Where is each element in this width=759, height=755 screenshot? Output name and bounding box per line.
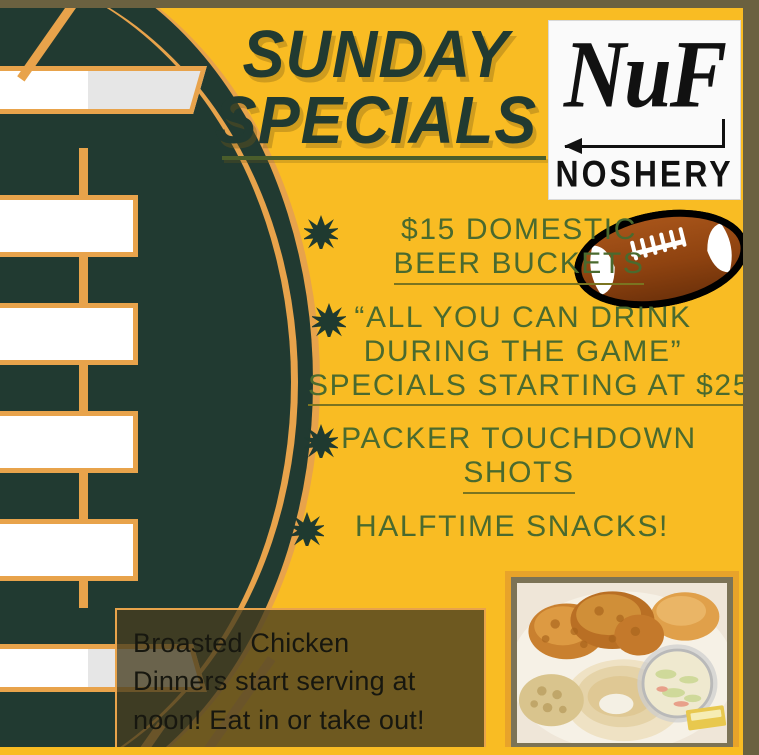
- special-line: SHOTS: [463, 456, 574, 494]
- special-line: “ALL YOU CAN DRINK: [308, 301, 738, 335]
- football-lace: [0, 195, 138, 257]
- page-title: SUNDAY SPECIALS: [196, 22, 556, 160]
- title-line-specials: SPECIALS: [207, 88, 545, 154]
- left-arrow-icon: [565, 145, 725, 148]
- special-item: HALFTIME SNACKS!: [286, 510, 738, 544]
- football-lace-bottom-highlight: [0, 649, 88, 687]
- special-item: “ALL YOU CAN DRINK DURING THE GAME” SPEC…: [308, 301, 738, 407]
- football-lace: [0, 303, 138, 365]
- title-line-sunday: SUNDAY: [207, 22, 545, 88]
- caption-box: Broasted Chicken Dinners start serving a…: [115, 608, 486, 755]
- starburst-icon: [304, 215, 338, 249]
- caption-line-2: Dinners start serving at: [133, 662, 468, 700]
- special-item: PACKER TOUCHDOWN SHOTS: [300, 422, 738, 494]
- starburst-icon: [312, 303, 346, 337]
- football-lace: [0, 519, 138, 581]
- football-lace: [0, 411, 138, 473]
- sunday-specials-flyer: SUNDAY SPECIALS NuF NOSHERY: [0, 0, 759, 755]
- special-line: DURING THE GAME”: [308, 335, 738, 369]
- caption-line-3: noon! Eat in or take out!: [133, 701, 468, 739]
- special-line: SPECIALS STARTING AT $25: [308, 369, 743, 407]
- special-line: HALFTIME SNACKS!: [286, 510, 738, 544]
- logo-brand-text: NuF: [549, 21, 740, 127]
- starburst-icon: [290, 512, 324, 546]
- bottom-gold-strip: [0, 747, 743, 755]
- special-line: PACKER TOUCHDOWN: [300, 422, 738, 456]
- special-line: BEER BUCKETS: [394, 247, 645, 285]
- broasted-chicken-dinner-photo: [505, 571, 739, 755]
- specials-list: $15 DOMESTIC BEER BUCKETS “ALL YOU CAN D…: [286, 213, 738, 560]
- special-item: $15 DOMESTIC BEER BUCKETS: [300, 213, 738, 285]
- starburst-icon: [304, 424, 338, 458]
- football-left-fill: [0, 8, 20, 755]
- football-lace-top-highlight: [0, 71, 88, 109]
- caption-line-1: Broasted Chicken: [133, 624, 468, 662]
- special-line: $15 DOMESTIC: [300, 213, 738, 247]
- logo-subtitle-text: NOSHERY: [549, 153, 740, 196]
- nuf-noshery-logo: NuF NOSHERY: [548, 20, 741, 200]
- flyer-canvas: SUNDAY SPECIALS NuF NOSHERY: [0, 8, 743, 755]
- photo-frame: [511, 577, 733, 749]
